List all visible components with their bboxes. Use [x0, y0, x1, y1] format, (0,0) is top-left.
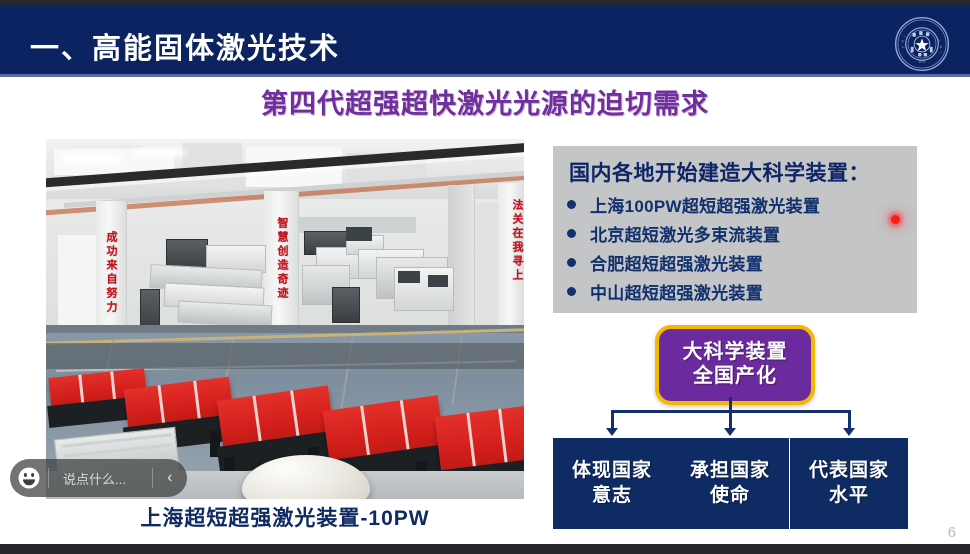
flowchart-arrow-icon [724, 428, 736, 436]
flowchart-child-2-line2: 使命 [710, 484, 750, 508]
svg-text:1911: 1911 [918, 59, 925, 63]
bullet-icon [567, 258, 576, 267]
svg-text:I: I [939, 51, 943, 53]
list-item: 中山超短超强激光装置 [567, 277, 820, 306]
flowchart-root-line2: 全国产化 [693, 365, 777, 389]
video-letterbox-top [0, 0, 970, 6]
flowchart-child-1-line1: 体现国家 [572, 459, 652, 483]
list-item: 北京超短激光多束流装置 [567, 219, 820, 248]
svg-text:S: S [901, 39, 906, 44]
smiley-face-icon[interactable] [10, 459, 48, 497]
photo-wall-panel [58, 235, 98, 335]
flowchart-child-3-line2: 水平 [829, 484, 869, 508]
list-item-label: 北京超短激光多束流装置 [590, 221, 780, 246]
flowchart-connector-drop [729, 410, 732, 428]
photo-equipment-rack [332, 287, 360, 323]
photo-ceiling-rail [72, 145, 142, 147]
flowchart-arrow-icon [606, 428, 618, 436]
section-headline: 第四代超强超快激光光源的迫切需求 [0, 82, 970, 121]
list-item-label: 上海100PW超短超强激光装置 [590, 192, 820, 217]
photo-banner-text: 法关在我寻上 [509, 199, 524, 283]
list-item-label: 合肥超短超强激光装置 [590, 250, 763, 275]
collapse-chevron-left-icon[interactable]: ‹ [153, 459, 187, 497]
flowchart-child-node-3: 代表国家 水平 [790, 438, 908, 529]
flowchart-child-node-1: 体现国家 意志 [553, 438, 671, 529]
photo-monitor [428, 275, 448, 287]
svg-text:T: T [901, 46, 905, 49]
svg-text:N: N [938, 45, 943, 50]
laser-facility-photo: 成功来自努力 智慧创造奇迹 法关在我寻上 [46, 139, 524, 499]
list-item: 合肥超短超强激光装置 [567, 248, 820, 277]
bullet-icon [567, 200, 576, 209]
facilities-list: 上海100PW超短超强激光装置 北京超短激光多束流装置 合肥超短超强激光装置 中… [567, 190, 820, 306]
bullet-icon [567, 287, 576, 296]
video-letterbox-bottom [0, 544, 970, 554]
tsinghua-university-seal-icon: T S I U N I 1911 [894, 16, 950, 72]
flowchart-child-node-2: 承担国家 使命 [671, 438, 789, 529]
flowchart-root-node: 大科学装置 全国产化 [655, 325, 815, 405]
list-item-label: 中山超短超强激光装置 [590, 279, 763, 304]
flowchart-arrow-icon [843, 428, 855, 436]
photo-optical-bench [46, 343, 524, 369]
list-item: 上海100PW超短超强激光装置 [567, 190, 820, 219]
photo-caption: 上海超短超强激光装置-10PW [46, 502, 524, 532]
comment-input[interactable]: 说点什么... [49, 469, 152, 488]
comment-input-overlay[interactable]: 说点什么... ‹ [10, 459, 187, 497]
flowchart-connector-drop [848, 410, 851, 428]
flowchart-connector-drop [611, 410, 614, 428]
photo-ceiling-lamp [64, 157, 118, 161]
facilities-list-title: 国内各地开始建造大科学装置： [569, 157, 870, 187]
flowchart-child-2-line1: 承担国家 [690, 459, 770, 483]
flowchart-root-line1: 大科学装置 [683, 341, 788, 365]
photo-monitor [346, 227, 372, 241]
slide-canvas: 一、高能固体激光技术 T S I U N [0, 0, 970, 554]
page-title: 一、高能固体激光技术 [30, 25, 340, 67]
flowchart-child-3-line1: 代表国家 [809, 459, 889, 483]
bullet-icon [567, 229, 576, 238]
photo-monitor [398, 271, 420, 283]
photo-ceiling-lamp [136, 151, 182, 154]
flowchart-child-1-line2: 意志 [592, 484, 632, 508]
facilities-list-panel: 国内各地开始建造大科学装置： 上海100PW超短超强激光装置 北京超短激光多束流… [553, 146, 917, 313]
photo-banner-text: 成功来自努力 [103, 231, 119, 315]
header-underline [0, 74, 970, 77]
svg-text:I: I [903, 34, 906, 38]
slide-header-bar: 一、高能固体激光技术 T S I U N [0, 6, 970, 74]
laser-pointer-dot [891, 215, 900, 224]
page-number: 6 [948, 524, 956, 541]
photo-banner-text: 智慧创造奇迹 [274, 217, 290, 301]
